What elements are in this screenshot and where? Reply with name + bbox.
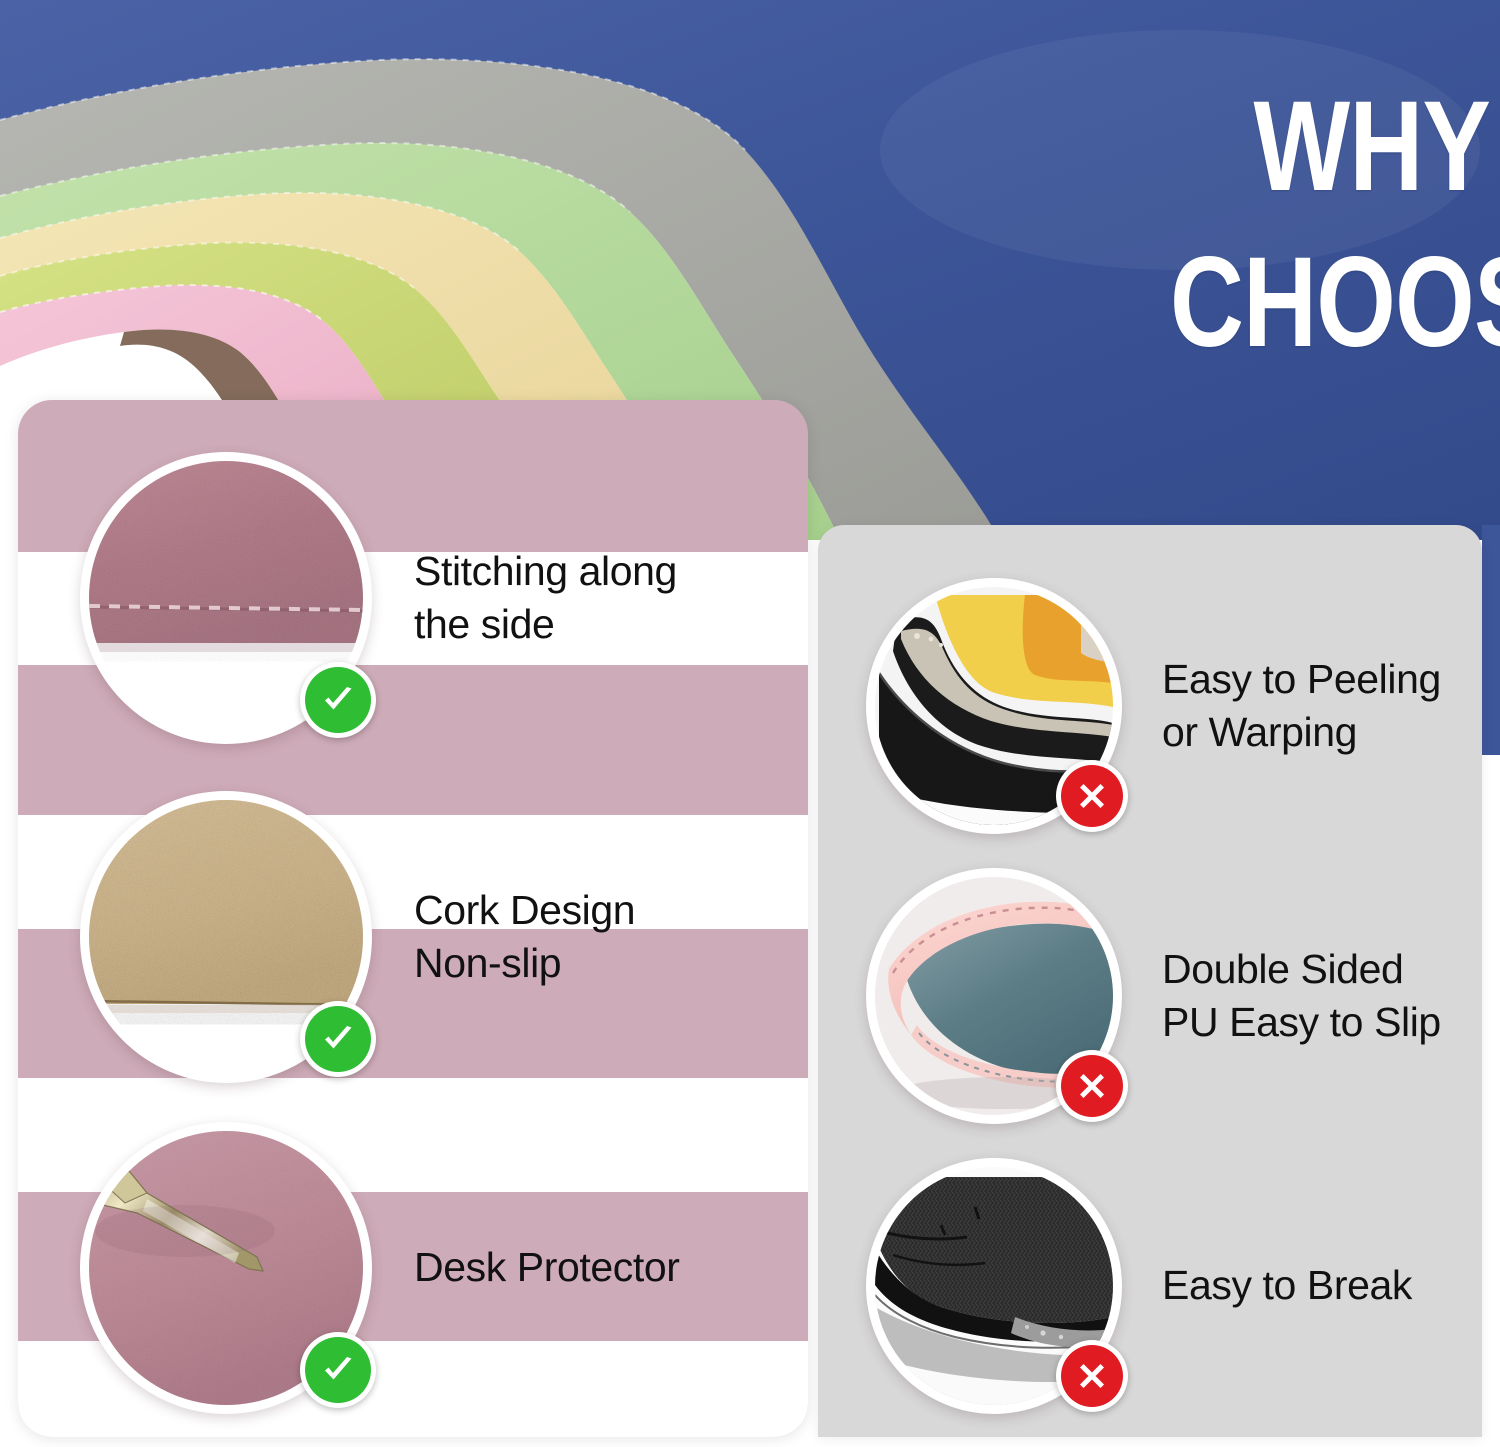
con-drawback-label-line-1: Double Sided (1162, 946, 1403, 992)
pro-feature-label: Desk Protector (414, 1241, 680, 1294)
check-mark-icon (318, 680, 358, 720)
pro-feature-row: Stitching along the side (18, 448, 808, 748)
pro-feature-label-line-2: Non-slip (414, 940, 561, 986)
con-drawback-label: Easy to Break (1162, 1259, 1412, 1312)
check-mark-icon (318, 1350, 358, 1390)
pro-feature-label: Cork Design Non-slip (414, 884, 635, 991)
cross-mark-icon (1075, 1069, 1109, 1103)
page-title: WHY CHOOSE US (1090, 88, 1490, 362)
pro-feature-row: Cork Design Non-slip (18, 792, 808, 1082)
con-drawback-label-line-1: Easy to Break (1162, 1262, 1412, 1308)
pro-features-panel: Stitching along the side (18, 400, 808, 1437)
check-badge-icon (300, 1001, 376, 1077)
check-badge-icon (300, 662, 376, 738)
con-drawback-label-line-2: or Warping (1162, 709, 1357, 755)
cross-mark-icon (1075, 1359, 1109, 1393)
con-drawback-row: Double Sided PU Easy to Slip (818, 853, 1482, 1139)
con-photo-wrap-1 (866, 578, 1122, 834)
con-drawback-label: Easy to Peeling or Warping (1162, 653, 1441, 760)
check-mark-icon (318, 1019, 358, 1059)
con-drawback-row: Easy to Break (818, 1143, 1482, 1429)
page-title-line-2: CHOOSE US (1170, 244, 1490, 362)
cross-badge-icon (1056, 1050, 1128, 1122)
pro-feature-label-line-1: Cork Design (414, 887, 635, 933)
pro-feature-label-line-1: Stitching along (414, 548, 677, 594)
cross-mark-icon (1075, 779, 1109, 813)
hero-blue-edge-sliver (1482, 525, 1500, 755)
check-badge-icon (300, 1332, 376, 1408)
con-drawback-row: Easy to Peeling or Warping (818, 563, 1482, 849)
cross-badge-icon (1056, 760, 1128, 832)
con-drawback-label-line-1: Easy to Peeling (1162, 656, 1441, 702)
pro-feature-label: Stitching along the side (414, 545, 677, 652)
pro-feature-label-line-2: the side (414, 601, 554, 647)
pro-feature-row: Desk Protector (18, 1123, 808, 1413)
pro-photo-wrap-3 (80, 1122, 372, 1414)
con-drawback-label: Double Sided PU Easy to Slip (1162, 943, 1441, 1050)
con-photo-wrap-3 (866, 1158, 1122, 1414)
con-drawback-label-line-2: PU Easy to Slip (1162, 999, 1441, 1045)
page-title-line-1: WHY (1170, 88, 1490, 206)
pro-photo-wrap-2 (80, 791, 372, 1083)
pro-photo-wrap-1 (80, 452, 372, 744)
cross-badge-icon (1056, 1340, 1128, 1412)
con-photo-wrap-2 (866, 868, 1122, 1124)
pro-feature-label-line-1: Desk Protector (414, 1244, 680, 1290)
con-drawbacks-panel: Easy to Peeling or Warping (818, 525, 1482, 1437)
